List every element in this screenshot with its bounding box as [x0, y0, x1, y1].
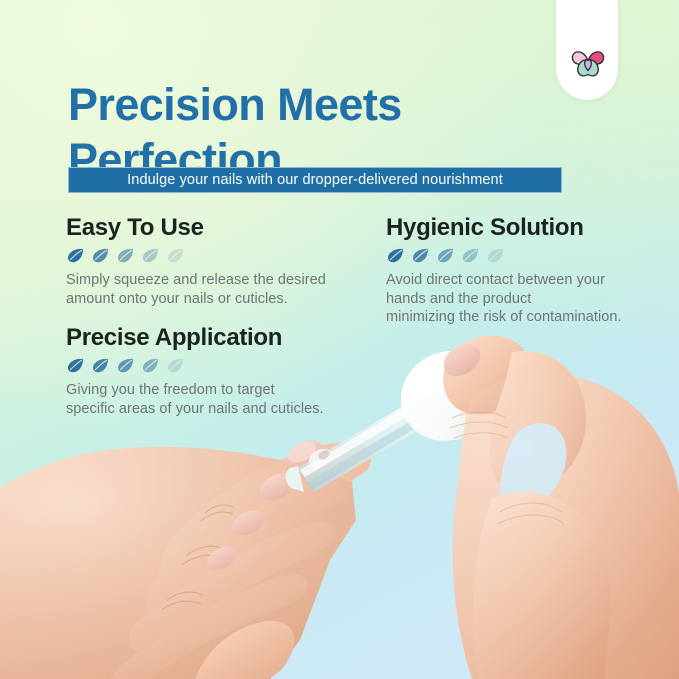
feature-description-line: amount onto your nails or cuticles.	[66, 290, 366, 309]
feature-description-line: specific areas of your nails and cuticle…	[66, 400, 366, 419]
feature-description: Simply squeeze and release the desired a…	[66, 271, 366, 308]
feature-description: Giving you the freedom to target specifi…	[66, 381, 366, 418]
leaf-rating-row	[387, 248, 658, 263]
leaf-icon	[487, 248, 504, 263]
leaf-icon	[117, 358, 134, 373]
leaf-icon	[142, 248, 159, 263]
leaf-icon	[167, 248, 184, 263]
leaf-icon	[437, 248, 454, 263]
leaf-rating-row	[67, 248, 366, 263]
feature-easy-to-use: Easy To Use Simply squeeze and release t…	[66, 214, 366, 308]
feature-description: Avoid direct contact between your hands …	[386, 271, 658, 327]
feature-description-line: hands and the product	[386, 290, 658, 309]
tagline-text: Indulge your nails with our dropper-deli…	[127, 172, 503, 188]
feature-precise-application: Precise Application Giving you the freed…	[66, 324, 366, 418]
leaf-icon	[67, 248, 84, 263]
feature-title: Precise Application	[66, 324, 366, 352]
headline-line-1: Precision Meets	[68, 79, 402, 130]
feature-description-line: minimizing the risk of contamination.	[386, 308, 658, 327]
leaf-icon	[117, 248, 134, 263]
flower-hearts-logo-icon	[566, 39, 610, 83]
feature-description-line: Simply squeeze and release the desired	[66, 271, 366, 290]
right-hand	[438, 336, 679, 679]
leaf-icon	[167, 358, 184, 373]
leaf-icon	[67, 358, 84, 373]
promo-banner-canvas: Precision Meets Perfection Indulge your …	[0, 0, 679, 679]
leaf-icon	[462, 248, 479, 263]
feature-description-line: Avoid direct contact between your	[386, 271, 658, 290]
feature-title: Easy To Use	[66, 214, 366, 242]
leaf-icon	[387, 248, 404, 263]
left-hand	[0, 435, 371, 679]
tagline-banner: Indulge your nails with our dropper-deli…	[68, 167, 562, 193]
leaf-icon	[142, 358, 159, 373]
feature-description-line: Giving you the freedom to target	[66, 381, 366, 400]
feature-hygienic-solution: Hygienic Solution Avoid direct contact b…	[386, 214, 658, 327]
leaf-rating-row	[67, 358, 366, 373]
feature-title: Hygienic Solution	[386, 214, 658, 242]
leaf-icon	[412, 248, 429, 263]
leaf-icon	[92, 248, 109, 263]
leaf-icon	[92, 358, 109, 373]
